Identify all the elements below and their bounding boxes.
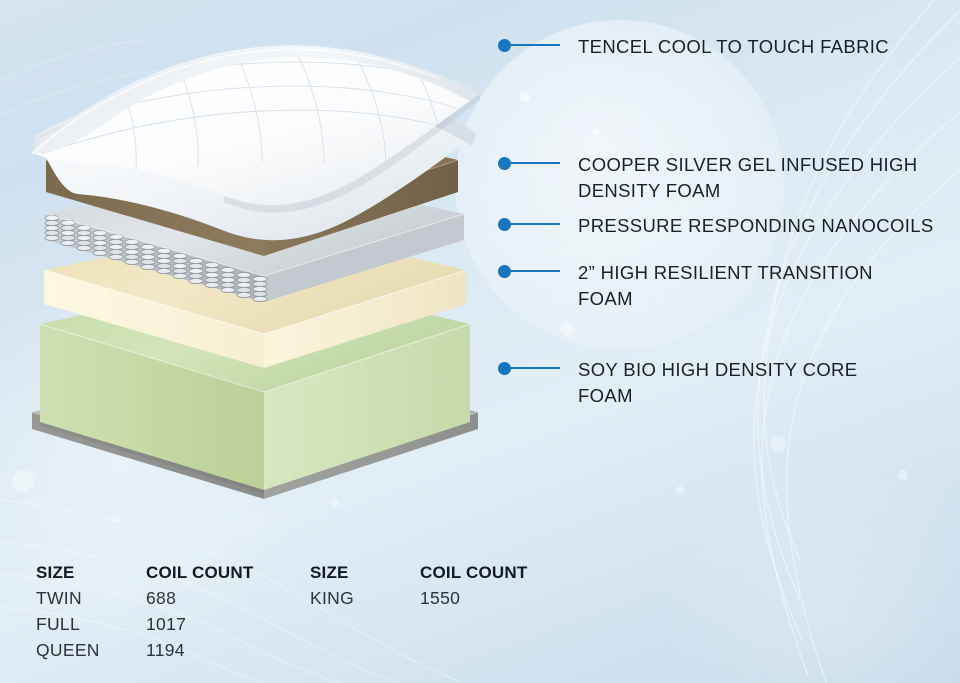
coil-count-table-left: SIZE COIL COUNT TWIN 688 FULL 1017 QUEEN… [36, 560, 253, 663]
callout-marker-icon [498, 36, 560, 54]
callout-line-icon [509, 44, 560, 46]
callout-line-icon [509, 367, 560, 369]
callout-marker-icon [498, 262, 560, 280]
table-cell-size: FULL [36, 612, 146, 637]
bokeh-dot [592, 128, 599, 135]
bokeh-dot [520, 92, 530, 102]
bokeh-dot [770, 436, 786, 452]
callout-copper-gel-foam[interactable]: COOPER SILVER GEL INFUSED HIGH DENSITY F… [498, 152, 917, 204]
bokeh-dot [898, 470, 908, 480]
callout-nanocoils[interactable]: PRESSURE RESPONDING NANOCOILS [498, 213, 934, 239]
callout-line-icon [509, 223, 560, 225]
table-cell-coil-count: 1194 [146, 638, 253, 663]
callout-tencel[interactable]: TENCEL COOL TO TOUCH FABRIC [498, 34, 889, 60]
callout-label: 2” HIGH RESILIENT TRANSITION FOAM [578, 260, 873, 312]
table-cell-coil-count: 1550 [420, 586, 527, 611]
callout-marker-icon [498, 215, 560, 233]
coil-count-table-right: SIZE COIL COUNT KING 1550 [310, 560, 527, 611]
mattress-exploded-illustration [18, 12, 488, 542]
callout-label: SOY BIO HIGH DENSITY CORE FOAM [578, 357, 857, 409]
table-cell-coil-count: 688 [146, 586, 253, 611]
callout-line-icon [509, 270, 560, 272]
mattress-layer-infographic: TENCEL COOL TO TOUCH FABRIC COOPER SILVE… [0, 0, 960, 683]
column-header-coil-count: COIL COUNT [420, 560, 527, 585]
callout-core-foam[interactable]: SOY BIO HIGH DENSITY CORE FOAM [498, 357, 857, 409]
table-cell-size: TWIN [36, 586, 146, 611]
table-cell-size: KING [310, 586, 420, 611]
callout-marker-icon [498, 154, 560, 172]
bokeh-dot [560, 322, 574, 336]
callout-transition-foam[interactable]: 2” HIGH RESILIENT TRANSITION FOAM [498, 260, 873, 312]
column-header-size: SIZE [310, 560, 420, 585]
background-glow-bottom-right [640, 463, 960, 683]
callout-label: COOPER SILVER GEL INFUSED HIGH DENSITY F… [578, 152, 917, 204]
bokeh-dot [676, 486, 684, 494]
table-cell-size: QUEEN [36, 638, 146, 663]
table-cell-coil-count: 1017 [146, 612, 253, 637]
callout-marker-icon [498, 359, 560, 377]
column-header-coil-count: COIL COUNT [146, 560, 253, 585]
callout-label: TENCEL COOL TO TOUCH FABRIC [578, 34, 889, 60]
column-header-size: SIZE [36, 560, 146, 585]
callout-label: PRESSURE RESPONDING NANOCOILS [578, 213, 934, 239]
callout-line-icon [509, 162, 560, 164]
